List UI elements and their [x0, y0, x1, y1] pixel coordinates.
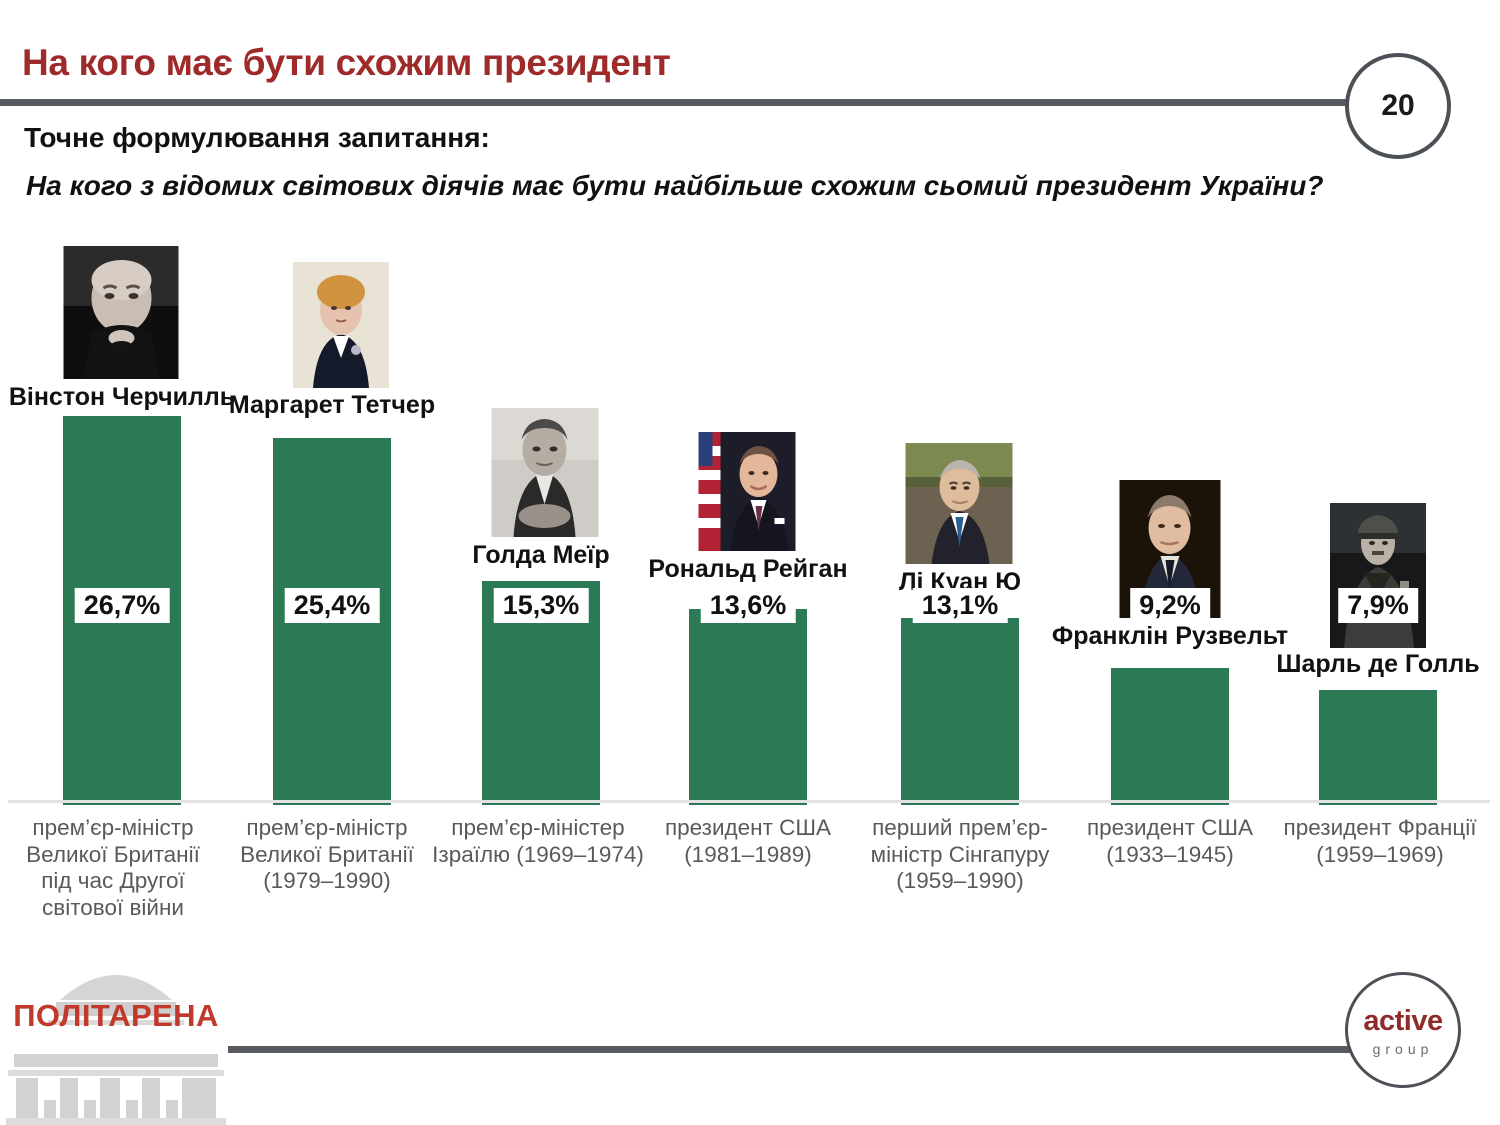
portrait-lee-kuan-yew [906, 443, 1013, 564]
category-label-3: президент США (1981–1989) [644, 815, 852, 868]
page-number-badge: 20 [1345, 53, 1451, 159]
portrait-golda-meir [492, 408, 599, 537]
category-label-4: перший прем’єр-міністр Сінгапуру (1959–1… [854, 815, 1066, 895]
chart-column-1: Маргарет Тетчер 25,4% [212, 230, 452, 805]
question-text: На кого з відомих світових діячів має бу… [26, 170, 1323, 202]
category-label-1: прем’єр-міністр Великої Британії (1979–1… [222, 815, 432, 895]
chart-category-axis: прем’єр-міністр Великої Британії під час… [0, 815, 1500, 930]
bar-chart: Вінстон Черчилль 26,7% [0, 230, 1500, 920]
bar-value-1: 25,4% [285, 588, 380, 623]
page-number-label: 20 [1381, 89, 1414, 123]
category-label-5: президент США (1933–1945) [1066, 815, 1274, 868]
chart-column-6: Шарль де Голль 7,9% [1258, 230, 1498, 805]
bar-value-5: 9,2% [1130, 588, 1210, 623]
category-label-2: прем’єр-міністер Ізраїлю (1969–1974) [432, 815, 644, 868]
chart-column-5: Франклін Рузвельт 9,2% [1050, 230, 1290, 805]
person-name-5: Франклін Рузвельт [1052, 624, 1288, 649]
category-label-6: президент Франції (1959–1969) [1276, 815, 1484, 868]
portrait-margaret-thatcher [293, 262, 389, 388]
person-name-2: Голда Меїр [472, 543, 609, 568]
bar-value-2: 15,3% [494, 588, 589, 623]
active-group-logo: active group [1345, 972, 1461, 1088]
bar-value-0: 26,7% [75, 588, 170, 623]
person-name-3: Рональд Рейган [648, 557, 847, 582]
bar-6 [1319, 690, 1437, 805]
chart-column-3: Рональд Рейган 13,6% [628, 230, 868, 805]
politarena-logo: ПОЛІТАРЕНА [0, 958, 232, 1125]
question-label: Точне формулювання запитання: [24, 122, 490, 154]
portrait-charles-de-gaulle [1330, 503, 1426, 648]
category-label-0: прем’єр-міністр Великої Британії під час… [8, 815, 218, 921]
header-divider [0, 99, 1400, 106]
person-name-6: Шарль де Голль [1276, 652, 1479, 677]
person-name-1: Маргарет Тетчер [229, 393, 435, 418]
bar-3 [689, 609, 807, 805]
bar-4 [901, 618, 1019, 805]
active-group-name: active [1348, 1005, 1458, 1038]
chart-column-0: Вінстон Черчилль 26,7% [2, 230, 242, 805]
chart-baseline [8, 800, 1490, 803]
portrait-winston-churchill [64, 246, 179, 379]
chart-column-2: Голда Меїр 15,3% [421, 230, 661, 805]
bar-value-3: 13,6% [701, 588, 796, 623]
chart-column-4: Лі Куан Ю 13,1% [840, 230, 1080, 805]
chart-plot-area: Вінстон Черчилль 26,7% [0, 230, 1500, 805]
portrait-ronald-reagan [699, 432, 796, 551]
politarena-label: ПОЛІТАРЕНА [4, 998, 228, 1034]
bar-5 [1111, 668, 1229, 805]
footer-divider [228, 1046, 1398, 1053]
active-group-subtitle: group [1348, 1041, 1458, 1057]
page-title: На кого має бути схожим президент [22, 42, 671, 84]
person-name-0: Вінстон Черчилль [9, 385, 235, 410]
slide: На кого має бути схожим президент 20 Точ… [0, 0, 1500, 1125]
bar-value-6: 7,9% [1338, 588, 1418, 623]
bar-value-4: 13,1% [913, 588, 1008, 623]
